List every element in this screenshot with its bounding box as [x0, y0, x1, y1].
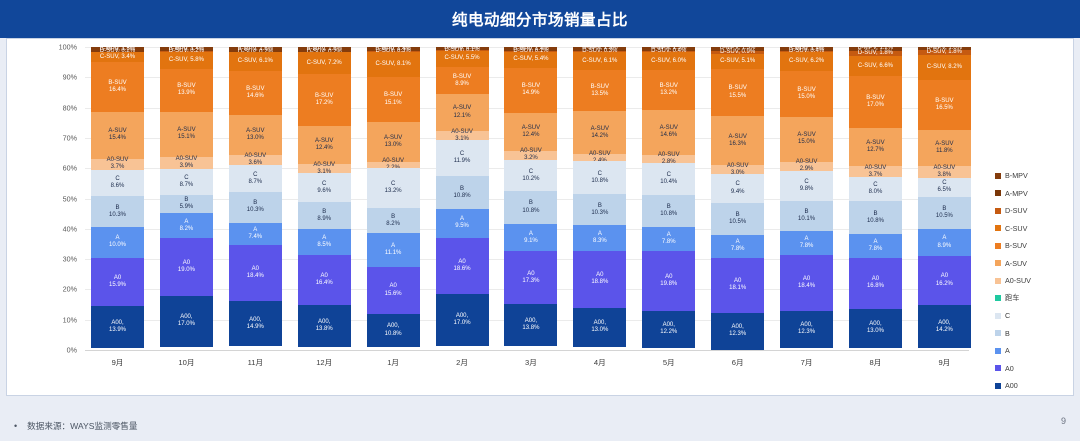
legend-swatch-icon: [995, 313, 1001, 319]
bar-segment-label: C 10.8%: [591, 171, 608, 185]
bar-segment-label: A0 18.8%: [591, 272, 608, 286]
bar-segment-label: C-SUV, 5.1%: [720, 58, 755, 65]
legend-item-label: A0: [1005, 364, 1014, 373]
bar-segment[interactable]: A-SUV 15.1%: [160, 112, 213, 158]
bar-segment-label: C-SUV, 6.1%: [582, 58, 617, 65]
legend-swatch-icon: [995, 208, 1001, 214]
bar-segment[interactable]: A0-SUV 2.9%: [780, 162, 833, 171]
bar-segment[interactable]: A 8.3%: [573, 225, 626, 250]
bar-segment[interactable]: B 10.8%: [436, 176, 489, 209]
bar-column[interactable]: B-MPV, 1.3%D-SUV, 0.4%C-SUV, 6.0%B-SUV 1…: [642, 47, 695, 350]
bar-column[interactable]: B-MPV, 1.6%D-SUV, 0.2%C-SUV, 6.1%B-SUV 1…: [229, 47, 282, 350]
bar-segment-label: B 10.3%: [591, 203, 608, 217]
bar-segment[interactable]: A 7.8%: [780, 231, 833, 255]
bar-segment[interactable]: A 7.8%: [849, 234, 902, 258]
bar-segment-label: C-SUV, 6.6%: [858, 63, 893, 70]
legend-item-a0-suv[interactable]: A0-SUV: [995, 272, 1073, 290]
bar-segment[interactable]: A0 19.8%: [642, 251, 695, 311]
bar-segment[interactable]: B-SUV 15.5%: [711, 69, 764, 116]
bar-segment-label: A0 16.2%: [936, 273, 953, 287]
bar-segment[interactable]: A-SUV 13.0%: [229, 115, 282, 154]
bar-segment[interactable]: A-SUV 11.8%: [918, 130, 971, 166]
bar-segment[interactable]: B 10.3%: [573, 194, 626, 225]
legend-item-label: 跑车: [1005, 293, 1019, 303]
bar-segment-label: C 8.7%: [248, 172, 262, 186]
bar-column[interactable]: B-MPV, 1.6%D-SUV, 0.2%C-SUV, 7.2%B-SUV 1…: [298, 47, 351, 350]
legend-swatch-icon: [995, 173, 1001, 179]
bar-segment-label: C-SUV, 7.2%: [307, 60, 342, 67]
bar-segment-label: A 9.5%: [455, 216, 469, 230]
bar-segment-label: C-SUV, 5.8%: [169, 57, 204, 64]
bar-segment[interactable]: C 8.7%: [160, 169, 213, 195]
bar-segment-label: A-SUV 14.2%: [591, 126, 609, 140]
legend-item-a-mpv[interactable]: A-MPV: [995, 185, 1073, 203]
legend-item-label: A-SUV: [1005, 259, 1027, 268]
x-axis-tick-label: 12月: [298, 354, 351, 372]
legend-item-a0[interactable]: A0: [995, 360, 1073, 378]
bar-column[interactable]: B-MPV, 1.0%D-SUV, 1.8%C-SUV, 8.2%B-SUV 1…: [918, 47, 971, 350]
bar-segment[interactable]: C 11.9%: [436, 140, 489, 176]
bar-segment[interactable]: B-SUV 14.9%: [504, 68, 557, 113]
bar-segment-label: A-SUV 15.0%: [797, 132, 815, 146]
bar-segment-label: A-SUV 12.7%: [866, 140, 884, 154]
bar-segment[interactable]: B 10.1%: [780, 201, 833, 232]
legend-item-a00[interactable]: A00: [995, 377, 1073, 395]
x-axis-tick-label: 7月: [780, 354, 833, 372]
source-note-row: • 数据来源：WAYS监测零售量: [14, 420, 137, 432]
bar-segment-label: B-SUV 17.2%: [315, 93, 333, 107]
y-axis-tick-label: 30%: [63, 255, 77, 264]
bar-segment-label: B 10.5%: [729, 212, 746, 226]
bar-segment[interactable]: A0-SUV 3.0%: [711, 165, 764, 174]
bar-segment[interactable]: A0 18.1%: [711, 258, 764, 313]
bar-segment[interactable]: A 7.8%: [711, 235, 764, 259]
bar-segment[interactable]: A0-SUV 2.8%: [642, 155, 695, 163]
bar-segment-label: C 11.9%: [454, 151, 471, 165]
bar-segment[interactable]: C 9.4%: [711, 174, 764, 202]
legend-item-label: B-SUV: [1005, 241, 1027, 250]
bar-segment-label: B-SUV 16.4%: [108, 80, 126, 94]
bar-segment-label: A0 15.9%: [109, 275, 126, 289]
bar-segment[interactable]: C-SUV, 5.5%: [436, 51, 489, 68]
bar-segment[interactable]: A-SUV 14.2%: [573, 111, 626, 154]
bar-segment-label: C-SUV, 8.1%: [376, 61, 411, 68]
legend-swatch-icon: [995, 295, 1001, 301]
bar-segment[interactable]: A0-SUV 3.1%: [298, 164, 351, 173]
bar-segment-label: A 7.8%: [662, 232, 676, 246]
bar-segment[interactable]: A0 16.2%: [918, 256, 971, 305]
bar-segment-label: C 9.4%: [731, 181, 745, 195]
bar-segment[interactable]: B-SUV 13.2%: [642, 70, 695, 110]
bar-segment[interactable]: A-SUV 12.1%: [436, 94, 489, 131]
bar-segment[interactable]: B-SUV 15.1%: [367, 77, 420, 123]
chart-container: 100%90%80%70%60%50%40%30%20%10%0% B-MPV,…: [6, 38, 1074, 396]
legend-item-d-suv[interactable]: D-SUV: [995, 202, 1073, 220]
bar-segment-label: C-SUV, 8.2%: [927, 64, 962, 71]
bar-segment[interactable]: C 10.4%: [642, 163, 695, 195]
bar-segment-label: B 10.5%: [936, 206, 953, 220]
bar-segment-label: C 9.8%: [800, 179, 814, 193]
y-axis-tick-label: 100%: [59, 43, 77, 52]
bar-segment[interactable]: A 9.1%: [504, 224, 557, 252]
bar-column[interactable]: B-MPV, 1.4%D-SUV, 0.3%C-SUV, 8.1%B-SUV 1…: [367, 47, 420, 350]
bar-segment[interactable]: A00, 10.8%: [367, 314, 420, 347]
x-axis-tick-label: 2月: [436, 354, 489, 372]
bar-segment-label: C 8.6%: [111, 176, 125, 190]
bar-column[interactable]: B-MPV, 1.3%D-SUV, 0.9%C-SUV, 5.1%B-SUV 1…: [711, 47, 764, 350]
bar-segment-label: B 10.8%: [454, 186, 471, 200]
y-axis-tick-label: 10%: [63, 315, 77, 324]
bar-segment[interactable]: B-SUV 15.0%: [780, 71, 833, 116]
legend-swatch-icon: [995, 348, 1001, 354]
bar-segment[interactable]: A00, 14.2%: [918, 305, 971, 348]
legend-item-b-mpv[interactable]: B-MPV: [995, 167, 1073, 185]
x-axis-tick-label: 9月: [918, 354, 971, 372]
bar-column[interactable]: B-MPV, 1.5%D-SUV, 0.2%C-SUV, 3.4%B-SUV 1…: [91, 47, 144, 350]
bar-segment-label: A 9.1%: [524, 231, 538, 245]
bar-segment[interactable]: A0-SUV 2.4%: [573, 154, 626, 161]
bar-column[interactable]: B-MPV, 1.2%D-SUV, 1.8%C-SUV, 6.6%B-SUV 1…: [849, 47, 902, 350]
bar-segment-label: A0 19.0%: [178, 260, 195, 274]
bar-segment[interactable]: A0-SUV 3.7%: [91, 159, 144, 170]
y-axis-tick-label: 50%: [63, 194, 77, 203]
bar-segment[interactable]: A0 16.4%: [298, 255, 351, 305]
bar-column[interactable]: B-MPV, 1.4%D-SUV, 0.2%C-SUV, 5.8%B-SUV 1…: [160, 47, 213, 350]
bar-segment-label: B-SUV 13.9%: [177, 83, 195, 97]
bullet-icon: •: [14, 421, 17, 431]
bar-segment-label: A00, 14.2%: [936, 320, 953, 334]
bar-segment[interactable]: A-SUV 15.0%: [780, 117, 833, 162]
bar-segment-label: B 10.3%: [247, 200, 264, 214]
chart-legend: B-MPVA-MPVD-SUVC-SUVB-SUVA-SUVA0-SUV跑车CB…: [995, 167, 1073, 395]
bar-column[interactable]: B-MPV, 1.4%D-SUV, 0.4%C-SUV, 6.2%B-SUV 1…: [780, 47, 833, 350]
bar-column[interactable]: B-MPV, 1.3%D-SUV, 0.3%C-SUV, 6.1%B-SUV 1…: [573, 47, 626, 350]
bar-segment[interactable]: A-SUV 13.0%: [367, 122, 420, 161]
bar-segment[interactable]: B 10.8%: [849, 201, 902, 234]
bar-segment-label: A 8.5%: [317, 235, 331, 249]
bar-segment[interactable]: C 8.7%: [229, 165, 282, 191]
bar-segment-label: A00, 12.3%: [729, 324, 746, 338]
bar-segment-label: A00, 13.0%: [591, 320, 608, 334]
bar-segment[interactable]: B 8.9%: [298, 202, 351, 229]
bar-segment-label: B-SUV 15.1%: [384, 92, 402, 106]
bar-segment[interactable]: A-SUV 12.4%: [298, 126, 351, 164]
bar-segment[interactable]: A00, 12.2%: [642, 311, 695, 348]
slide-footer: • 数据来源：WAYS监测零售量 9: [0, 400, 1080, 441]
bar-segment[interactable]: B 10.3%: [91, 196, 144, 227]
bar-segment[interactable]: A0-SUV 3.7%: [849, 166, 902, 177]
bar-segment[interactable]: C 6.5%: [918, 178, 971, 198]
bar-segment-label: C 9.6%: [317, 181, 331, 195]
bar-segment-label: A00, 14.9%: [247, 317, 264, 331]
bar-segment-label: A00, 13.0%: [867, 321, 884, 335]
legend-swatch-icon: [995, 330, 1001, 336]
bar-segment-label: A-SUV 12.4%: [315, 138, 333, 152]
bar-segment[interactable]: A00, 13.8%: [298, 305, 351, 347]
bar-segment[interactable]: C-SUV, 3.4%: [91, 52, 144, 62]
bar-segment-label: C-SUV, 6.2%: [789, 58, 824, 65]
bar-segment-label: A 7.4%: [248, 227, 262, 241]
bar-segment[interactable]: A 7.4%: [229, 223, 282, 245]
bar-segment[interactable]: A00, 13.8%: [504, 304, 557, 346]
y-axis-tick-label: 0%: [67, 346, 77, 355]
bar-segment[interactable]: A 8.2%: [160, 213, 213, 238]
bar-segment[interactable]: B 10.8%: [504, 191, 557, 224]
bar-segment[interactable]: C 8.6%: [91, 170, 144, 196]
legend-item-label: D-SUV: [1005, 206, 1027, 215]
legend-item--[interactable]: 跑车: [995, 290, 1073, 308]
bar-segment[interactable]: C-SUV, 5.4%: [504, 52, 557, 68]
legend-item-a[interactable]: A: [995, 342, 1073, 360]
bar-segment[interactable]: A0 17.3%: [504, 251, 557, 303]
bar-segment[interactable]: A0 18.4%: [780, 255, 833, 311]
bar-segment[interactable]: A-SUV 15.4%: [91, 112, 144, 159]
x-axis-tick-label: 6月: [711, 354, 764, 372]
legend-swatch-icon: [995, 383, 1001, 389]
bar-segment-label: B 10.1%: [798, 209, 815, 223]
legend-item-a-suv[interactable]: A-SUV: [995, 255, 1073, 273]
bar-segment-label: A0 18.4%: [798, 276, 815, 290]
bar-segment[interactable]: C-SUV, 8.2%: [918, 55, 971, 80]
bar-segment[interactable]: A-SUV 14.6%: [642, 110, 695, 154]
legend-swatch-icon: [995, 278, 1001, 284]
x-axis-tick-label: 8月: [849, 354, 902, 372]
bar-segment[interactable]: A0 18.4%: [229, 245, 282, 301]
bar-segment[interactable]: A 8.5%: [298, 229, 351, 255]
bar-segment[interactable]: B-SUV 16.4%: [91, 62, 144, 112]
bar-segment-label: A00, 13.8%: [522, 318, 539, 332]
legend-item-label: C: [1005, 311, 1010, 320]
bar-segment[interactable]: A00, 17.0%: [160, 296, 213, 348]
bar-segment[interactable]: C-SUV, 5.1%: [711, 54, 764, 69]
x-axis-tick-label: 4月: [573, 354, 626, 372]
bar-column[interactable]: B-MPV, 1.1%D-SUV, 0.1%C-SUV, 5.5%B-SUV 8…: [436, 47, 489, 350]
legend-swatch-icon: [995, 243, 1001, 249]
bar-segment-label: A00, 12.3%: [798, 322, 815, 336]
bar-segment-label: B 8.2%: [386, 214, 400, 228]
y-axis-tick-label: 80%: [63, 103, 77, 112]
bar-segment[interactable]: A0 16.8%: [849, 258, 902, 309]
source-note-text: 数据来源：WAYS监测零售量: [27, 420, 137, 432]
bar-segment[interactable]: B-SUV 14.6%: [229, 71, 282, 115]
bar-segment-label: A 8.2%: [180, 219, 194, 233]
bar-segment-label: A0 19.8%: [660, 274, 677, 288]
page-number: 9: [1061, 416, 1066, 426]
x-axis-tick-label: 1月: [367, 354, 420, 372]
bar-segment-label: C-SUV, 6.1%: [238, 58, 273, 65]
bar-segment-label: A-SUV 13.0%: [384, 135, 402, 149]
bar-segment-label: A-SUV 12.4%: [522, 125, 540, 139]
bar-segment[interactable]: A00, 13.0%: [849, 309, 902, 348]
bar-segment-label: A00, 12.2%: [660, 322, 677, 336]
bar-segment[interactable]: C-SUV, 5.8%: [160, 52, 213, 70]
legend-item-label: B-MPV: [1005, 171, 1028, 180]
bar-segment-label: C 13.2%: [385, 181, 402, 195]
bar-segment-label: C 10.2%: [522, 169, 539, 183]
bar-segment-label: A-SUV 12.1%: [453, 105, 471, 119]
bar-segment[interactable]: A0-SUV 2.2%: [367, 162, 420, 169]
bar-segment[interactable]: A0 18.8%: [573, 251, 626, 308]
bar-segment[interactable]: B 10.8%: [642, 195, 695, 228]
x-axis: 9月10月11月12月1月2月3月4月5月6月7月8月9月: [91, 354, 971, 372]
bar-segment-label: A 11.1%: [385, 243, 402, 257]
bar-segment[interactable]: A0 15.6%: [367, 267, 420, 314]
bar-segment[interactable]: A0-SUV 3.1%: [436, 131, 489, 140]
bar-segment-label: B 5.9%: [180, 197, 194, 211]
bar-segment-label: B-SUV 14.6%: [246, 86, 264, 100]
bar-segment-label: A-SUV 11.8%: [935, 141, 953, 155]
bar-segment-label: A00, 13.8%: [316, 319, 333, 333]
bar-segment-label: C 6.5%: [938, 180, 952, 194]
bar-segment-label: A 7.8%: [869, 239, 883, 253]
bar-segment-label: A00, 10.8%: [385, 323, 402, 337]
y-axis-tick-label: 20%: [63, 285, 77, 294]
bar-segment[interactable]: A00, 13.9%: [91, 306, 144, 348]
bar-segment-label: C 8.7%: [180, 175, 194, 189]
y-axis: 100%90%80%70%60%50%40%30%20%10%0%: [7, 47, 85, 350]
bar-segment-label: B-SUV 14.9%: [522, 83, 540, 97]
slide-title-bar: 纯电动细分市场销量占比: [0, 0, 1080, 38]
legend-item-c-suv[interactable]: C-SUV: [995, 220, 1073, 238]
bar-segment-label: C 10.4%: [660, 172, 677, 186]
bar-segment[interactable]: C 10.8%: [573, 161, 626, 194]
legend-item-b[interactable]: B: [995, 325, 1073, 343]
bar-segment[interactable]: C-SUV, 7.2%: [298, 52, 351, 74]
legend-item-label: A-MPV: [1005, 189, 1028, 198]
y-axis-tick-label: 60%: [63, 164, 77, 173]
bar-segment[interactable]: B-SUV 8.9%: [436, 67, 489, 94]
legend-item-label: A00: [1005, 381, 1018, 390]
bar-segment[interactable]: A0 18.6%: [436, 238, 489, 294]
bar-segment[interactable]: A00, 14.9%: [229, 301, 282, 346]
bar-segment-label: C-SUV, 6.0%: [651, 58, 686, 65]
bar-segment-label: B-SUV 15.0%: [797, 87, 815, 101]
bar-segment-label: A0 16.8%: [867, 276, 884, 290]
bar-segment-label: B 10.8%: [522, 200, 539, 214]
bar-segment[interactable]: C 9.6%: [298, 173, 351, 202]
bar-segment[interactable]: C 9.8%: [780, 171, 833, 201]
bar-segment[interactable]: B-SUV 17.2%: [298, 74, 351, 126]
bar-segment[interactable]: A 10.0%: [91, 227, 144, 257]
bar-segment[interactable]: B 10.5%: [711, 203, 764, 235]
bar-segment[interactable]: A00, 17.0%: [436, 294, 489, 346]
y-axis-tick-label: 70%: [63, 133, 77, 142]
bar-segment-label: A 10.0%: [109, 235, 126, 249]
bar-segment[interactable]: B 10.3%: [229, 192, 282, 223]
bar-segment-label: A0 15.6%: [385, 283, 402, 297]
bar-segment[interactable]: A-SUV 12.4%: [504, 113, 557, 151]
bar-segment[interactable]: B 10.5%: [918, 197, 971, 229]
legend-item-b-suv[interactable]: B-SUV: [995, 237, 1073, 255]
x-axis-line: [85, 350, 969, 351]
legend-item-label: B: [1005, 329, 1010, 338]
legend-item-c[interactable]: C: [995, 307, 1073, 325]
y-axis-tick-label: 90%: [63, 73, 77, 82]
bar-segment[interactable]: C-SUV, 8.1%: [367, 52, 420, 77]
bar-segment-label: A0 16.4%: [316, 273, 333, 287]
bar-segment-label: A0 18.6%: [454, 259, 471, 273]
bar-segment-label: C-SUV, 5.4%: [513, 56, 548, 63]
bar-segment[interactable]: B-SUV 17.0%: [849, 76, 902, 128]
bar-column[interactable]: B-MPV, 1.4%D-SUV, 0.1%C-SUV, 5.4%B-SUV 1…: [504, 47, 557, 350]
bar-segment[interactable]: A-SUV 12.7%: [849, 128, 902, 166]
legend-item-label: C-SUV: [1005, 224, 1027, 233]
legend-swatch-icon: [995, 260, 1001, 266]
bar-segment-label: B 10.8%: [867, 211, 884, 225]
bar-segment-label: A-SUV 13.0%: [246, 128, 264, 142]
bar-segment-label: B-SUV 8.9%: [453, 74, 471, 88]
bar-segment[interactable]: C-SUV, 6.2%: [780, 52, 833, 71]
bar-segment[interactable]: A00, 12.3%: [711, 313, 764, 350]
bar-segment[interactable]: A0 19.0%: [160, 238, 213, 296]
bar-segment-label: B 8.9%: [317, 209, 331, 223]
bar-segment-label: A 7.8%: [731, 239, 745, 253]
bar-segment-label: A-SUV 15.1%: [177, 127, 195, 141]
bar-segment[interactable]: B 5.9%: [160, 195, 213, 213]
bar-segment[interactable]: B-SUV 13.9%: [160, 69, 213, 111]
slide-canvas: 纯电动细分市场销量占比 100%90%80%70%60%50%40%30%20%…: [0, 0, 1080, 441]
bar-segment[interactable]: C-SUV, 6.1%: [573, 52, 626, 70]
bar-segment[interactable]: C 8.0%: [849, 177, 902, 201]
bar-segment[interactable]: C-SUV, 6.6%: [849, 56, 902, 76]
bar-segment[interactable]: A 11.1%: [367, 233, 420, 267]
y-axis-tick-label: 40%: [63, 224, 77, 233]
bar-segment-label: A0 18.4%: [247, 266, 264, 280]
bar-segment[interactable]: C-SUV, 6.1%: [229, 52, 282, 70]
bar-segment[interactable]: A0-SUV 3.6%: [229, 155, 282, 166]
x-axis-tick-label: 9月: [91, 354, 144, 372]
bar-segment[interactable]: C-SUV, 6.0%: [642, 52, 695, 70]
bar-segment-label: B-SUV 13.2%: [660, 83, 678, 97]
legend-swatch-icon: [995, 225, 1001, 231]
bar-segment-label: B-SUV 16.5%: [935, 98, 953, 112]
x-axis-tick-label: 5月: [642, 354, 695, 372]
legend-swatch-icon: [995, 190, 1001, 196]
bar-segment[interactable]: B-SUV 13.5%: [573, 70, 626, 111]
bar-segment[interactable]: B-SUV 16.5%: [918, 80, 971, 130]
bar-segment[interactable]: B 8.2%: [367, 208, 420, 233]
bar-segment[interactable]: A0-SUV 3.9%: [160, 157, 213, 169]
bar-segment[interactable]: A00, 13.0%: [573, 308, 626, 347]
bar-segment[interactable]: C 10.2%: [504, 160, 557, 191]
bar-segment-label: A-SUV 14.6%: [660, 125, 678, 139]
bar-segment-label: A0 17.3%: [522, 271, 539, 285]
bar-segment-label: A00, 17.0%: [454, 313, 471, 327]
bar-segment-label: A0 18.1%: [729, 278, 746, 292]
x-axis-tick-label: 3月: [504, 354, 557, 372]
bar-segment[interactable]: A0-SUV 3.8%: [918, 166, 971, 178]
bar-segment-label: B 10.8%: [660, 204, 677, 218]
bar-segment[interactable]: A0-SUV 3.2%: [504, 151, 557, 161]
bar-segment[interactable]: A 7.8%: [642, 227, 695, 251]
bar-segment[interactable]: A-SUV 16.3%: [711, 116, 764, 165]
bar-segment[interactable]: A0 15.9%: [91, 258, 144, 306]
page-title: 纯电动细分市场销量占比: [452, 8, 628, 30]
bar-segment-label: A00, 17.0%: [178, 314, 195, 328]
bar-segment[interactable]: C 13.2%: [367, 168, 420, 208]
bar-segment-label: B 10.3%: [109, 205, 126, 219]
bar-segment-label: A 8.9%: [938, 235, 952, 249]
bar-segment[interactable]: A00, 12.3%: [780, 311, 833, 348]
bar-segment-label: B-SUV 17.0%: [866, 95, 884, 109]
stacked-bar-series: B-MPV, 1.5%D-SUV, 0.2%C-SUV, 3.4%B-SUV 1…: [91, 47, 971, 350]
bar-segment[interactable]: A 8.9%: [918, 229, 971, 256]
x-axis-tick-label: 11月: [229, 354, 282, 372]
bar-segment-label: A00, 13.9%: [109, 320, 126, 334]
bar-segment-label: C 8.0%: [869, 182, 883, 196]
bar-segment[interactable]: A 9.5%: [436, 209, 489, 238]
bar-segment-label: A-SUV 16.3%: [728, 134, 746, 148]
